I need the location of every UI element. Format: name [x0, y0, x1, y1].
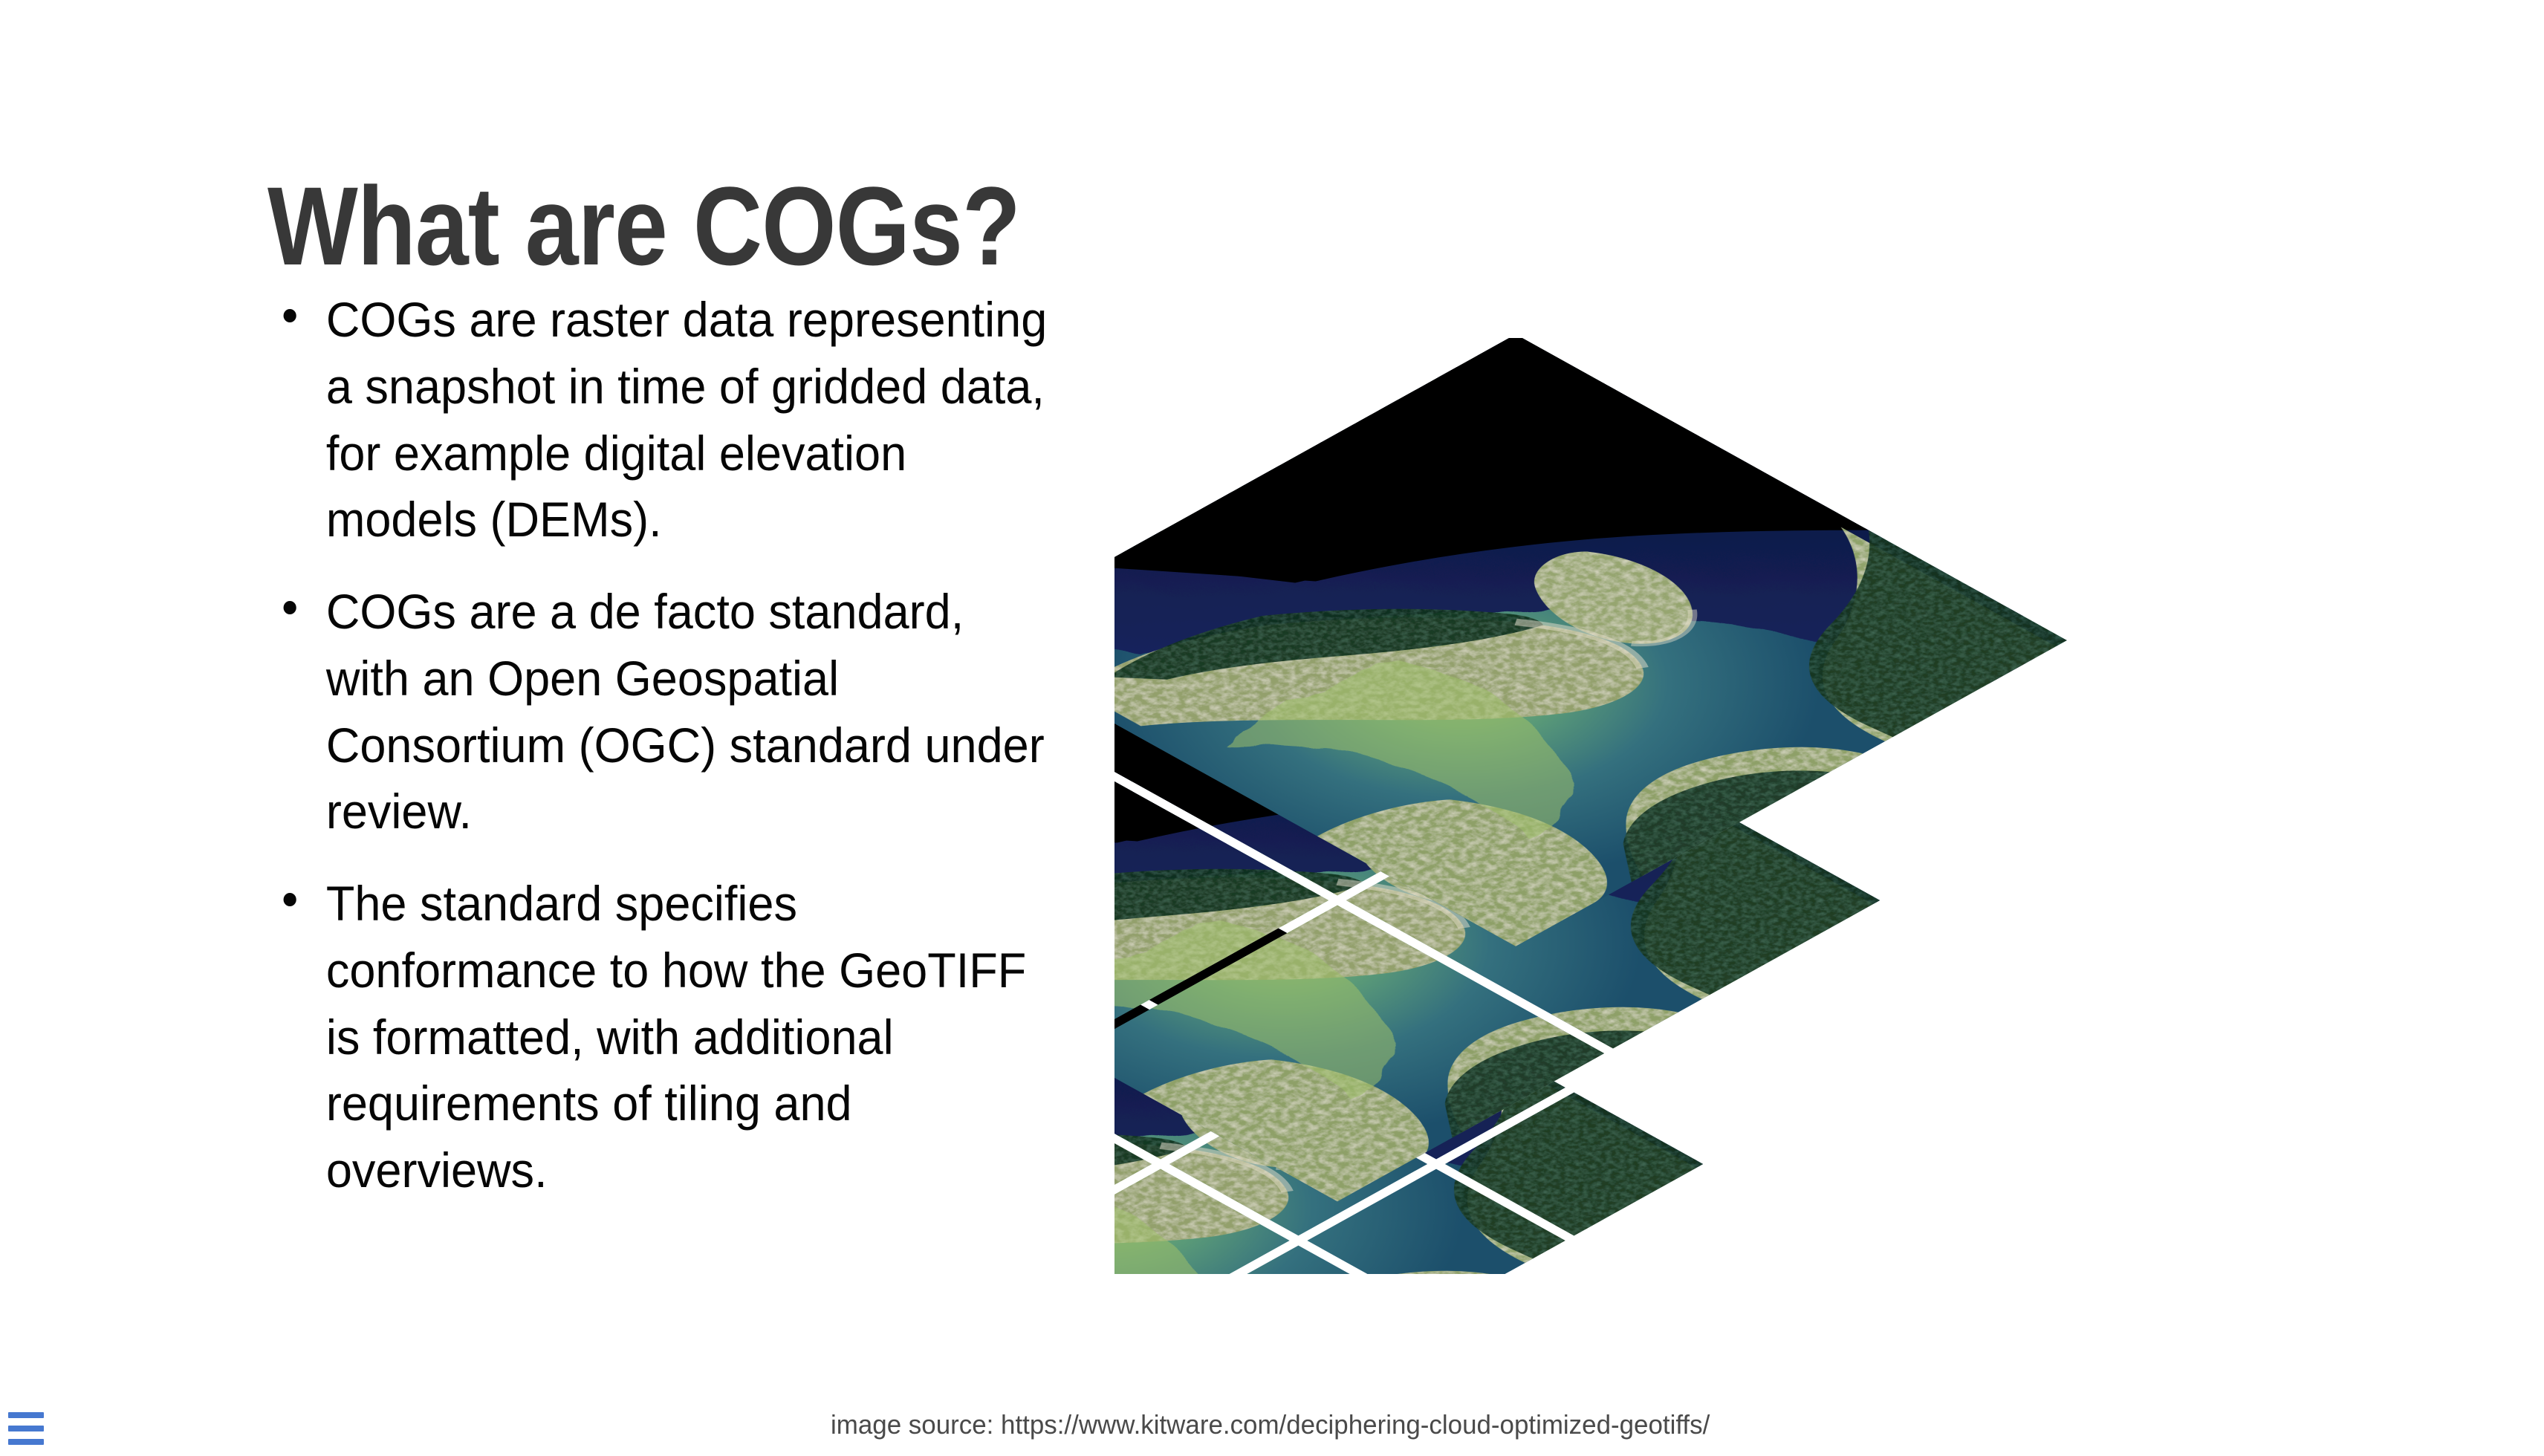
- bullet-dot-icon: [284, 893, 296, 906]
- list-item: COGs are raster data representing a snap…: [276, 287, 1057, 553]
- bullet-dot-icon: [284, 601, 296, 614]
- list-item-text: The standard specifies conformance to ho…: [326, 871, 1057, 1204]
- list-item: The standard specifies conformance to ho…: [276, 871, 1057, 1204]
- bullet-list: COGs are raster data representing a snap…: [276, 287, 1094, 1204]
- raster-layer-overview: [1114, 338, 2244, 1274]
- raster-layer-overview-layer: [1114, 338, 2067, 946]
- menu-bar-3: [8, 1439, 44, 1445]
- menu-bar-1: [8, 1412, 44, 1418]
- list-item-text: COGs are raster data representing a snap…: [326, 287, 1057, 553]
- page-title: What are COGs?: [267, 170, 1545, 282]
- list-item-text: COGs are a de facto standard, with an Op…: [326, 579, 1057, 845]
- bullet-dot-icon: [284, 309, 296, 322]
- raster-tile: [1114, 338, 2067, 946]
- menu-bar-2: [8, 1426, 44, 1431]
- image-source-caption: image source: https://www.kitware.com/de…: [831, 1408, 1710, 1440]
- slide-canvas: What are COGs? COGs are raster data repr…: [0, 0, 2544, 1456]
- raster-tile-pyramid-figure: [1114, 338, 2244, 1274]
- hamburger-menu-icon[interactable]: [8, 1412, 44, 1445]
- list-item: COGs are a de facto standard, with an Op…: [276, 579, 1057, 845]
